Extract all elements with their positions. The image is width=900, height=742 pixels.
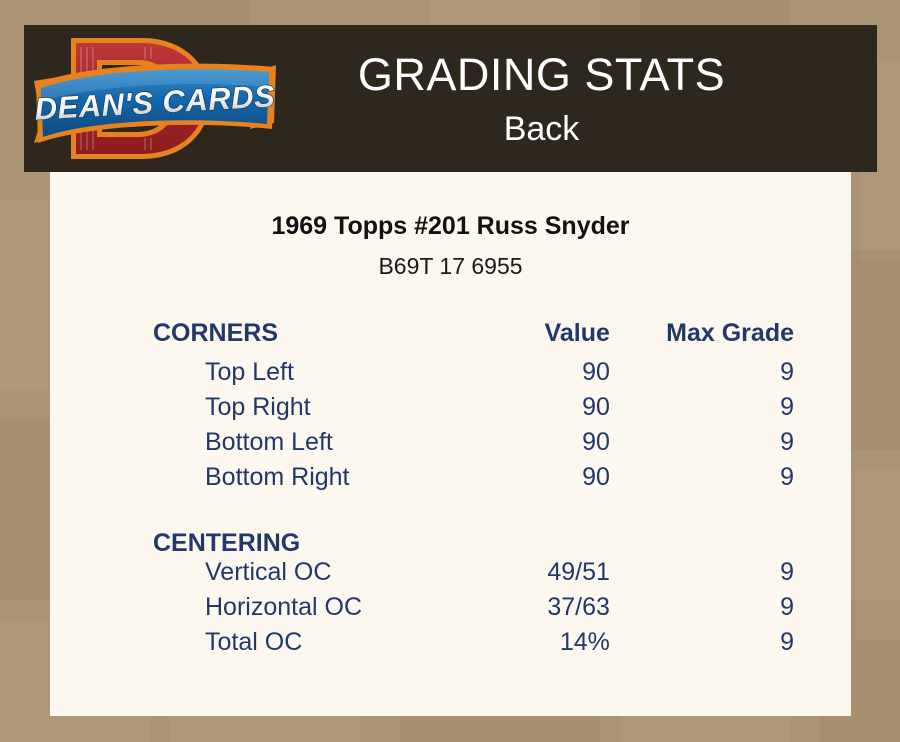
column-header-value: Value	[451, 319, 662, 358]
stat-label: Horizontal OC	[50, 593, 451, 628]
table-row: Top Left909	[50, 358, 851, 393]
stat-value: 49/51	[451, 558, 662, 593]
stat-value: 90	[451, 393, 662, 428]
stats-panel: 1969 Topps #201 Russ Snyder B69T 17 6955…	[50, 172, 851, 716]
table-row: Total OC14%9	[50, 628, 851, 663]
card-id: B69T 17 6955	[50, 253, 851, 280]
grading-stats-table: CORNERSValueMax GradeTop Left909Top Righ…	[50, 319, 851, 663]
table-section-row: CENTERING	[50, 511, 851, 558]
table-row: Vertical OC49/519	[50, 558, 851, 593]
card-title: 1969 Topps #201 Russ Snyder	[50, 212, 851, 241]
stat-max-grade: 9	[662, 358, 851, 393]
stat-max-grade: 9	[662, 463, 851, 498]
stat-label: Top Left	[50, 358, 451, 393]
table-row: Bottom Left909	[50, 428, 851, 463]
section-title: CENTERING	[50, 511, 451, 558]
app-header: DEAN'S CARDS GRADING STATS Back	[24, 25, 877, 172]
stat-max-grade: 9	[662, 558, 851, 593]
table-header-row: CORNERSValueMax Grade	[50, 319, 851, 358]
stat-label: Top Right	[50, 393, 451, 428]
deans-cards-logo[interactable]: DEAN'S CARDS	[24, 25, 286, 172]
header-title-block: GRADING STATS Back	[286, 52, 877, 146]
stat-value: 14%	[451, 628, 662, 663]
column-header-max-grade: Max Grade	[662, 319, 851, 358]
page-title: GRADING STATS	[286, 52, 797, 97]
stat-max-grade: 9	[662, 428, 851, 463]
stat-label: Bottom Right	[50, 463, 451, 498]
table-row: Top Right909	[50, 393, 851, 428]
section-title: CORNERS	[50, 319, 451, 358]
stat-value: 90	[451, 428, 662, 463]
table-row: Bottom Right909	[50, 463, 851, 498]
stat-value: 90	[451, 358, 662, 393]
stat-max-grade: 9	[662, 628, 851, 663]
stat-max-grade: 9	[662, 593, 851, 628]
section-spacer	[50, 498, 851, 511]
stat-max-grade: 9	[662, 393, 851, 428]
stat-label: Vertical OC	[50, 558, 451, 593]
stat-label: Bottom Left	[50, 428, 451, 463]
stat-value: 90	[451, 463, 662, 498]
stat-value: 37/63	[451, 593, 662, 628]
stat-label: Total OC	[50, 628, 451, 663]
page-subtitle: Back	[286, 112, 797, 146]
table-row: Horizontal OC37/639	[50, 593, 851, 628]
